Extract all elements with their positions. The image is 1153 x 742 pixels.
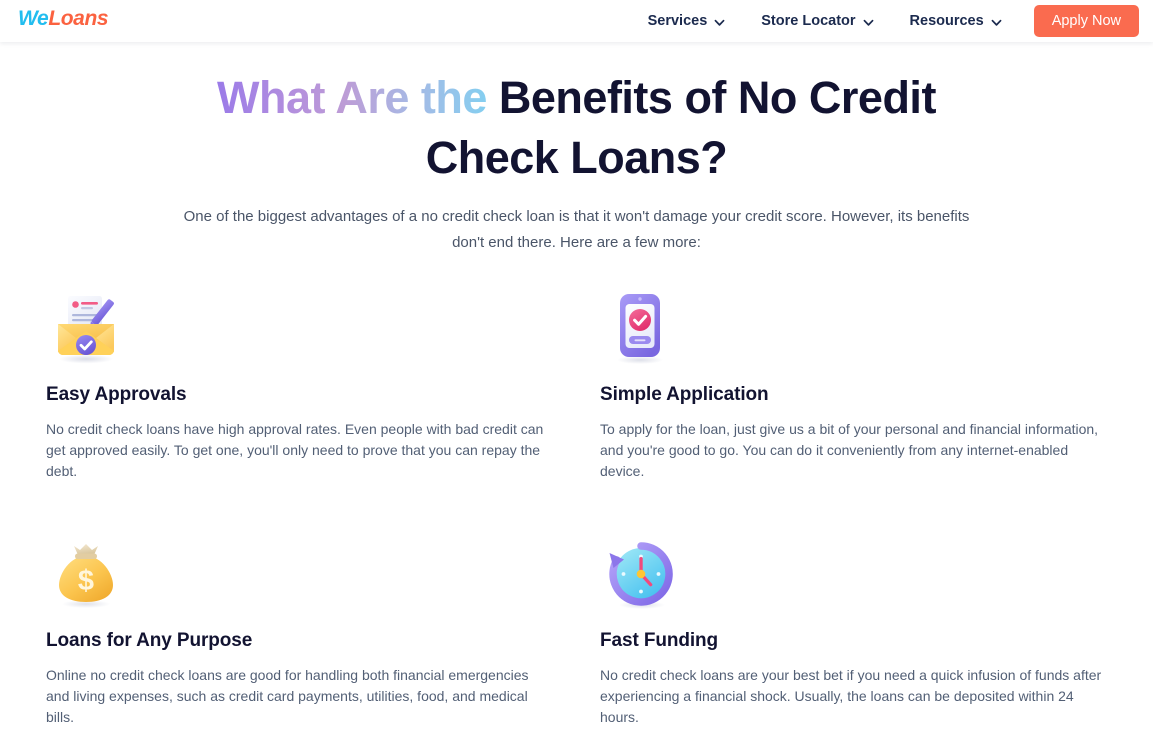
page-title-plain-part: Benefits of No Credit Check Loans? bbox=[426, 72, 936, 183]
benefit-card-title: Easy Approvals bbox=[46, 384, 600, 406]
apply-now-button[interactable]: Apply Now bbox=[1034, 5, 1139, 37]
clock-arrow-icon bbox=[600, 534, 680, 614]
nav-item-services[interactable]: Services bbox=[630, 0, 744, 42]
page-title-gradient-part: What Are the bbox=[217, 72, 499, 123]
benefit-card-body: No credit check loans are your best bet … bbox=[600, 665, 1112, 728]
site-header: WeLoans Services Store Locator Resources bbox=[0, 0, 1153, 42]
page-root: WeLoans Services Store Locator Resources bbox=[0, 0, 1153, 742]
mobile-phone-checkmark-icon bbox=[600, 288, 680, 368]
nav-item-label: Resources bbox=[910, 13, 984, 29]
benefit-card-simple-application: Simple Application To apply for the loan… bbox=[600, 278, 1153, 482]
chevron-down-icon bbox=[991, 17, 1002, 28]
nav-item-label: Store Locator bbox=[761, 13, 855, 29]
chevron-down-icon bbox=[863, 17, 874, 28]
benefit-card-body: Online no credit check loans are good fo… bbox=[46, 665, 546, 728]
benefit-card-body: To apply for the loan, just give us a bi… bbox=[600, 419, 1112, 482]
logo-text-loans: Loans bbox=[48, 7, 108, 30]
site-logo[interactable]: WeLoans bbox=[18, 6, 108, 32]
benefit-card-title: Simple Application bbox=[600, 384, 1153, 406]
money-bag-dollar-icon: $ bbox=[46, 534, 126, 614]
main-navigation: Services Store Locator Resources Apply N… bbox=[630, 0, 1147, 42]
main-content: What Are the Benefits of No Credit Check… bbox=[0, 42, 1153, 742]
envelope-document-pencil-icon bbox=[46, 288, 126, 368]
benefit-card-title: Fast Funding bbox=[600, 630, 1153, 652]
nav-item-resources[interactable]: Resources bbox=[892, 0, 1020, 42]
page-subtitle: One of the biggest advantages of a no cr… bbox=[182, 204, 972, 256]
benefit-card-loans-any-purpose: $ Loans for Any Purpose Online no credit… bbox=[46, 482, 600, 728]
page-title: What Are the Benefits of No Credit Check… bbox=[177, 68, 977, 188]
benefit-card-title: Loans for Any Purpose bbox=[46, 630, 600, 652]
chevron-down-icon bbox=[714, 17, 725, 28]
nav-item-label: Services bbox=[648, 13, 708, 29]
nav-item-store-locator[interactable]: Store Locator bbox=[743, 0, 891, 42]
benefit-card-body: No credit check loans have high approval… bbox=[46, 419, 546, 482]
logo-text-we: We bbox=[18, 7, 48, 30]
benefit-card-fast-funding: Fast Funding No credit check loans are y… bbox=[600, 482, 1153, 728]
benefits-grid: Easy Approvals No credit check loans hav… bbox=[0, 278, 1153, 728]
benefit-card-easy-approvals: Easy Approvals No credit check loans hav… bbox=[46, 278, 600, 482]
svg-text:$: $ bbox=[78, 565, 94, 597]
